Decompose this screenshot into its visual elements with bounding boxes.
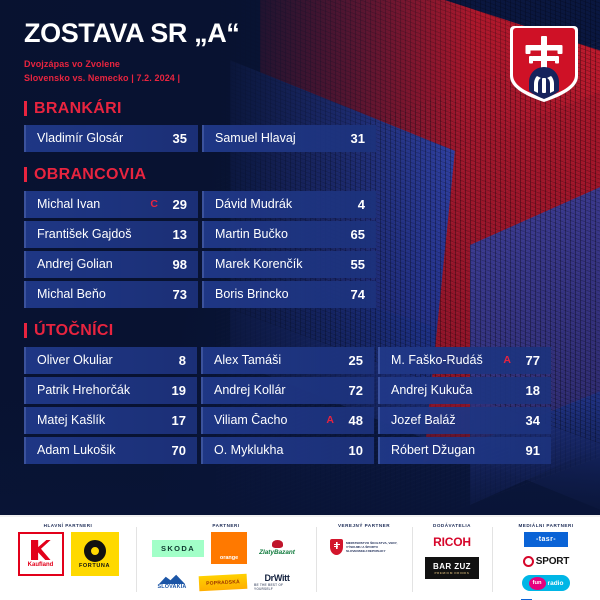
roster-section-goalies: BRANKÁRIVladimír Glosár35Samuel Hlavaj31 — [24, 100, 576, 152]
player-name: Vladimír Glosár — [37, 131, 165, 145]
player-name: Patrik Hrehorčák — [37, 383, 164, 397]
player-cell[interactable]: Vladimír Glosár35 — [24, 125, 198, 152]
table-row: Andrej Golian98Marek Korenčík55 — [24, 251, 576, 278]
alternate-captain-badge: A — [503, 354, 511, 366]
player-name: Adam Lukošik — [37, 443, 164, 457]
player-number: 91 — [518, 443, 540, 458]
ricoh-logo-icon: RICOH — [424, 532, 480, 552]
player-name: Viliam Čacho — [214, 413, 321, 427]
fortuna-logo-icon: FORTUNA — [71, 532, 119, 576]
sponsor-logo-grid: Kaufland FORTUNA — [13, 532, 124, 576]
player-number: 77 — [518, 353, 540, 368]
zlaty-bazant-mark — [272, 540, 283, 548]
player-name: Dávid Mudrák — [215, 197, 343, 211]
drwitt-logo-icon: DrWitt BE THE BEST OF YOURSELF — [254, 571, 300, 593]
player-name: Michal Beňo — [37, 287, 165, 301]
drwitt-tagline: BE THE BEST OF YOURSELF — [254, 583, 300, 591]
player-cell[interactable]: Michal Beňo73 — [24, 281, 198, 308]
sponsor-group-partneri: PARTNERI SKODA orange ZlatyBazant SLOVAK… — [136, 517, 316, 600]
barzuz-logo-icon: BAR ZUZ PREMIUM DRINKS — [425, 557, 479, 579]
player-cell[interactable]: M. Faško-RudášA77 — [378, 347, 551, 374]
skoda-logo-icon: SKODA — [152, 540, 204, 557]
section-title: BRANKÁRI — [34, 100, 122, 118]
roster-rows: Vladimír Glosár35Samuel Hlavaj31 — [24, 125, 576, 152]
zlaty-bazant-logo-icon: ZlatyBazant — [254, 534, 300, 562]
player-name: František Gajdoš — [37, 227, 165, 241]
sponsor-group-medialni-partneri: MEDIÁLNI PARTNERI -tasr- SPORT fun radio… — [492, 517, 600, 600]
player-cell[interactable]: Róbert Džugan91 — [378, 437, 551, 464]
player-cell[interactable]: Oliver Okuliar8 — [24, 347, 197, 374]
sport-mark — [523, 556, 534, 567]
ministry-wordmark: MINISTERSTVO ŠKOLSTVA, VEDY, VÝSKUMU A Š… — [346, 541, 398, 554]
player-cell[interactable]: Andrej Golian98 — [24, 251, 198, 278]
player-name: Andrej Kollár — [214, 383, 341, 397]
player-name: Michal Ivan — [37, 197, 145, 211]
player-number: 34 — [518, 413, 540, 428]
roster-rows: Michal IvanC29Dávid Mudrák4František Gaj… — [24, 191, 576, 308]
table-row: Patrik Hrehorčák19Andrej Kollár72Andrej … — [24, 377, 576, 404]
page-subtitle: Dvojzápas vo Zvolene Slovensko vs. Nemec… — [24, 58, 576, 86]
player-number: 19 — [164, 383, 186, 398]
player-number: 74 — [343, 287, 365, 302]
player-number: 29 — [165, 197, 187, 212]
roster-section-defense: OBRANCOVIAMichal IvanC29Dávid Mudrák4Fra… — [24, 166, 576, 308]
zlaty-bazant-wordmark: ZlatyBazant — [259, 549, 295, 556]
alternate-captain-badge: A — [326, 414, 334, 426]
sponsor-group-label: HLAVNÍ PARTNERI — [44, 523, 93, 528]
sponsor-logo-grid: SKODA orange ZlatyBazant SLOVAKIA POPRAD… — [136, 532, 316, 595]
player-cell[interactable]: O. Myklukha10 — [201, 437, 374, 464]
sport-logo-icon: SPORT — [518, 552, 574, 570]
sponsor-logo-grid: MINISTERSTVO ŠKOLSTVA, VEDY, VÝSKUMU A Š… — [321, 532, 407, 562]
player-cell[interactable]: Alex Tamáši25 — [201, 347, 374, 374]
player-number: 73 — [165, 287, 187, 302]
orange-logo-icon: orange — [211, 532, 247, 564]
player-cell[interactable]: Viliam ČachoA48 — [201, 407, 374, 434]
slovak-hockey-crest-icon — [510, 22, 578, 102]
player-number: 18 — [518, 383, 540, 398]
player-cell[interactable]: Michal IvanC29 — [24, 191, 198, 218]
player-cell[interactable]: Marek Korenčík55 — [202, 251, 376, 278]
sponsor-group-label: VEREJNÝ PARTNER — [338, 523, 390, 528]
page-title: ZOSTAVA SR „A“ — [24, 18, 576, 49]
table-row: Matej Kašlík17Viliam ČachoA48Jozef Baláž… — [24, 407, 576, 434]
table-row: Vladimír Glosár35Samuel Hlavaj31 — [24, 125, 576, 152]
player-name: Boris Brincko — [215, 287, 343, 301]
section-header: ÚTOČNÍCI — [24, 322, 576, 340]
captain-badge: C — [150, 198, 158, 210]
player-number: 72 — [341, 383, 363, 398]
sponsor-logo-grid: RICOH BAR ZUZ PREMIUM DRINKS — [412, 532, 492, 579]
fortuna-wordmark: FORTUNA — [79, 563, 110, 569]
player-name: Jozef Baláž — [391, 413, 518, 427]
roster-sections: BRANKÁRIVladimír Glosár35Samuel Hlavaj31… — [24, 100, 576, 464]
player-cell[interactable]: Dávid Mudrák4 — [202, 191, 376, 218]
ministerstvo-skolstva-logo-icon: MINISTERSTVO ŠKOLSTVA, VEDY, VÝSKUMU A Š… — [326, 532, 402, 562]
player-cell[interactable]: Patrik Hrehorčák19 — [24, 377, 197, 404]
fun-radio-wordmark: radio — [548, 580, 564, 587]
sponsor-footer: HLAVNÍ PARTNERI Kaufland FORTUNA PARTNER… — [0, 515, 600, 600]
player-cell[interactable]: Matej Kašlík17 — [24, 407, 197, 434]
player-cell[interactable]: Samuel Hlavaj31 — [202, 125, 376, 152]
player-name: O. Myklukha — [214, 443, 341, 457]
player-cell[interactable]: Adam Lukošik70 — [24, 437, 197, 464]
slovakia-logo-icon: SLOVAKIA — [152, 569, 192, 595]
fortuna-mark — [84, 540, 106, 562]
table-row: Michal Beňo73Boris Brincko74 — [24, 281, 576, 308]
player-cell[interactable]: Martin Bučko65 — [202, 221, 376, 248]
roster-rows: Oliver Okuliar8Alex Tamáši25M. Faško-Rud… — [24, 347, 576, 464]
kaufland-wordmark: Kaufland — [28, 562, 54, 568]
player-cell[interactable]: Boris Brincko74 — [202, 281, 376, 308]
fun-radio-mark: fun — [529, 577, 546, 590]
player-name: Róbert Džugan — [391, 443, 518, 457]
player-name: Martin Bučko — [215, 227, 343, 241]
player-name: Andrej Kukuča — [391, 383, 518, 397]
kaufland-mark — [31, 540, 51, 560]
slovakia-wordmark: SLOVAKIA — [157, 584, 186, 590]
sponsor-group-label: PARTNERI — [212, 523, 239, 528]
sponsor-group-label: DODÁVATELIA — [433, 523, 471, 528]
player-number: 10 — [341, 443, 363, 458]
section-accent-bar — [24, 323, 27, 338]
section-title: ÚTOČNÍCI — [34, 322, 113, 340]
player-number: 48 — [341, 413, 363, 428]
player-number: 17 — [164, 413, 186, 428]
player-name: Alex Tamáši — [214, 353, 341, 367]
player-name: M. Faško-Rudáš — [391, 353, 498, 367]
sponsor-group-label: MEDIÁLNI PARTNERI — [518, 523, 573, 528]
player-number: 31 — [343, 131, 365, 146]
popradska-logo-icon: POPRADSKÁ — [199, 573, 248, 590]
table-row: Michal IvanC29Dávid Mudrák4 — [24, 191, 576, 218]
player-cell[interactable]: Jozef Baláž34 — [378, 407, 551, 434]
player-number: 98 — [165, 257, 187, 272]
player-number: 35 — [165, 131, 187, 146]
section-accent-bar — [24, 167, 27, 182]
player-number: 65 — [343, 227, 365, 242]
barzuz-tagline: PREMIUM DRINKS — [435, 571, 470, 575]
player-name: Samuel Hlavaj — [215, 131, 343, 145]
sport-wordmark: SPORT — [536, 556, 569, 567]
player-number: 13 — [165, 227, 187, 242]
sponsor-group-verejny-partner: VEREJNÝ PARTNER MINISTERSTVO ŠKOLSTVA, V… — [316, 517, 412, 600]
sponsor-group-hlavni-partneri: HLAVNÍ PARTNERI Kaufland FORTUNA — [0, 517, 136, 600]
sponsor-group-dodavatelia: DODÁVATELIA RICOH BAR ZUZ PREMIUM DRINKS — [412, 517, 492, 600]
section-header: OBRANCOVIA — [24, 166, 576, 184]
drwitt-wordmark: DrWitt — [264, 573, 289, 583]
section-header: BRANKÁRI — [24, 100, 576, 118]
player-number: 4 — [343, 197, 365, 212]
player-number: 70 — [164, 443, 186, 458]
table-row: Oliver Okuliar8Alex Tamáši25M. Faško-Rud… — [24, 347, 576, 374]
player-name: Oliver Okuliar — [37, 353, 164, 367]
subtitle-line-2: Slovensko vs. Nemecko | 7.2. 2024 | — [24, 72, 576, 86]
sport-sk-logo-icon: Sport.SK — [517, 596, 575, 600]
player-cell[interactable]: Andrej Kollár72 — [201, 377, 374, 404]
player-name: Matej Kašlík — [37, 413, 164, 427]
sponsor-logo-grid: -tasr- SPORT fun radio Sport.SK — [492, 532, 600, 600]
roster-section-forwards: ÚTOČNÍCIOliver Okuliar8Alex Tamáši25M. F… — [24, 322, 576, 464]
fun-radio-logo-icon: fun radio — [522, 575, 570, 591]
player-cell[interactable]: Andrej Kukuča18 — [378, 377, 551, 404]
kaufland-logo-icon: Kaufland — [18, 532, 64, 576]
table-row: František Gajdoš13Martin Bučko65 — [24, 221, 576, 248]
player-name: Marek Korenčík — [215, 257, 343, 271]
team-roster-poster: ZOSTAVA SR „A“ Dvojzápas vo Zvolene Slov… — [0, 0, 600, 600]
player-number: 55 — [343, 257, 365, 272]
player-number: 25 — [341, 353, 363, 368]
slovakia-mountain-mark — [159, 574, 185, 584]
table-row: Adam Lukošik70O. Myklukha10Róbert Džugan… — [24, 437, 576, 464]
player-cell[interactable]: František Gajdoš13 — [24, 221, 198, 248]
player-number: 8 — [164, 353, 186, 368]
barzuz-wordmark: BAR ZUZ — [433, 562, 471, 571]
subtitle-line-1: Dvojzápas vo Zvolene — [24, 58, 576, 72]
ministry-shield-mark — [330, 539, 343, 555]
section-title: OBRANCOVIA — [34, 166, 146, 184]
section-accent-bar — [24, 101, 27, 116]
player-name: Andrej Golian — [37, 257, 165, 271]
tasr-logo-icon: -tasr- — [524, 532, 568, 547]
